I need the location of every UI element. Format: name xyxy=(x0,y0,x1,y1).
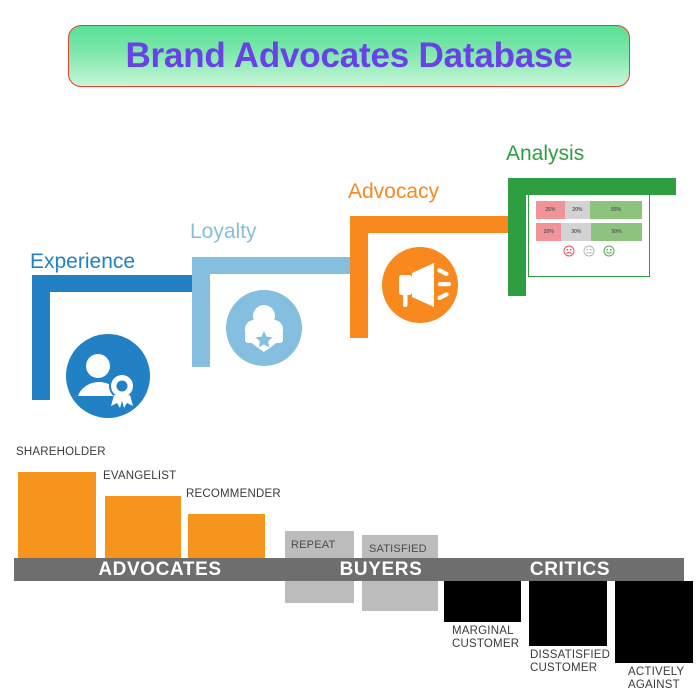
chart-bar-dissatisfied-customer xyxy=(529,581,607,646)
chart-bar-recommender xyxy=(188,514,265,560)
survey-row: 25% 20% 55% xyxy=(536,201,642,219)
chart-label-shareholder: SHAREHOLDER xyxy=(16,446,106,458)
chart-label-recommender: RECOMMENDER xyxy=(186,488,281,500)
survey-row: 20% 30% 50% xyxy=(536,223,642,241)
step-leg-vertical xyxy=(192,257,210,367)
chart-label-marginal-customer: MARGINAL CUSTOMER xyxy=(452,625,532,651)
page-title: Brand Advocates Database xyxy=(125,36,572,76)
band-segment-advocates: ADVOCATES xyxy=(14,558,306,581)
chart-label-dissatisfied-customer: DISSATISFIED CUSTOMER xyxy=(530,649,612,675)
step-arm-horizontal xyxy=(32,275,200,292)
chart-bar-evangelist xyxy=(105,496,181,560)
megaphone-icon xyxy=(382,247,458,323)
survey-chart-icon: 25% 20% 55% 20% 30% 50% xyxy=(528,194,650,277)
survey-segment-positive: 55% xyxy=(590,201,642,219)
survey-segment-neutral: 30% xyxy=(561,223,591,241)
happy-face-icon xyxy=(603,245,615,257)
chart-label-evangelist: EVANGELIST xyxy=(103,470,176,482)
chart-bar-actively-against xyxy=(615,581,693,663)
chart-label-satisfied: SATISFIED xyxy=(369,543,427,555)
step-arm-horizontal xyxy=(350,216,518,233)
step-leg-vertical xyxy=(508,178,526,296)
band-segment-buyers: BUYERS xyxy=(306,558,456,581)
survey-face-rating-row xyxy=(536,245,642,257)
user-heart-star-icon xyxy=(226,290,302,366)
step-label-analysis: Analysis xyxy=(506,142,584,166)
step-label-experience: Experience xyxy=(30,250,135,274)
step-leg-vertical xyxy=(350,216,368,338)
page-title-banner: Brand Advocates Database xyxy=(68,25,630,87)
survey-segment-positive: 50% xyxy=(591,223,642,241)
user-award-icon xyxy=(66,334,150,418)
step-arm-horizontal xyxy=(192,257,360,274)
survey-segment-neutral: 20% xyxy=(565,201,590,219)
band-label-buyers: BUYERS xyxy=(340,559,423,581)
advocates-buyers-critics-chart: SHAREHOLDER EVANGELIST RECOMMENDER REPEA… xyxy=(0,430,698,698)
band-label-critics: CRITICS xyxy=(530,559,610,581)
step-label-loyalty: Loyalty xyxy=(190,220,257,244)
sad-face-icon xyxy=(563,245,575,257)
chart-label-repeat: REPEAT xyxy=(291,539,335,551)
chart-label-actively-against: ACTIVELY AGAINST xyxy=(628,666,698,692)
step-label-advocacy: Advocacy xyxy=(348,180,439,204)
band-segment-critics: CRITICS xyxy=(456,558,684,581)
step-arm-horizontal xyxy=(508,178,676,195)
chart-group-band: ADVOCATES BUYERS CRITICS xyxy=(14,558,684,581)
chart-bar-marginal-customer xyxy=(444,581,521,622)
step-leg-vertical xyxy=(32,275,50,400)
survey-segment-negative: 25% xyxy=(536,201,565,219)
survey-segment-negative: 20% xyxy=(536,223,561,241)
band-label-advocates: ADVOCATES xyxy=(98,559,221,581)
chart-bar-shareholder xyxy=(18,472,96,560)
neutral-face-icon xyxy=(583,245,595,257)
